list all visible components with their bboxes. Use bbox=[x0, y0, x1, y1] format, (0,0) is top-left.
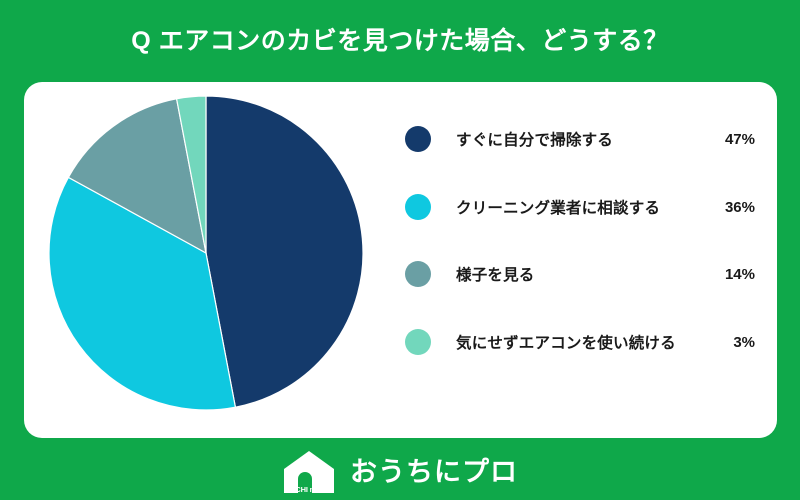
legend-value-3: 3% bbox=[713, 334, 755, 351]
legend-label-1: クリーニング業者に相談する bbox=[456, 196, 707, 218]
chart-legend: すぐに自分で掃除する 47% クリーニング業者に相談する 36% 様子を見る 1… bbox=[405, 112, 755, 412]
legend-label-2: 様子を見る bbox=[456, 263, 707, 285]
logo-mark-label: OUCHI ni PRO bbox=[282, 485, 336, 494]
legend-item-1[interactable]: クリーニング業者に相談する 36% bbox=[405, 190, 755, 224]
legend-label-0: すぐに自分で掃除する bbox=[456, 128, 707, 150]
chart-card: すぐに自分で掃除する 47% クリーニング業者に相談する 36% 様子を見る 1… bbox=[24, 82, 777, 438]
legend-color-swatch-icon-3 bbox=[405, 329, 431, 355]
header-banner: Q エアコンのカビを見つけた場合、どうする？ bbox=[0, 0, 800, 82]
page-title: Q エアコンのカビを見つけた場合、どうする？ bbox=[131, 29, 668, 54]
brand-footer: OUCHI ni PRO おうちにプロ bbox=[0, 444, 800, 500]
legend-value-0: 47% bbox=[713, 131, 755, 148]
legend-value-1: 36% bbox=[713, 199, 755, 216]
pie-slice-group bbox=[49, 96, 363, 410]
legend-item-3[interactable]: 気にせずエアコンを使い続ける 3% bbox=[405, 325, 755, 359]
pie-chart-svg bbox=[48, 95, 364, 411]
house-logo-icon: OUCHI ni PRO bbox=[282, 449, 336, 495]
legend-color-swatch-icon-0 bbox=[405, 126, 431, 152]
legend-color-swatch-icon-1 bbox=[405, 194, 431, 220]
legend-value-2: 14% bbox=[713, 266, 755, 283]
pie-slice-0[interactable] bbox=[206, 96, 363, 407]
logo-wordmark: おうちにプロ bbox=[350, 459, 518, 486]
legend-label-3: 気にせずエアコンを使い続ける bbox=[456, 331, 707, 353]
legend-item-2[interactable]: 様子を見る 14% bbox=[405, 257, 755, 291]
pie-chart bbox=[48, 95, 364, 411]
legend-item-0[interactable]: すぐに自分で掃除する 47% bbox=[405, 122, 755, 156]
legend-color-swatch-icon-2 bbox=[405, 261, 431, 287]
